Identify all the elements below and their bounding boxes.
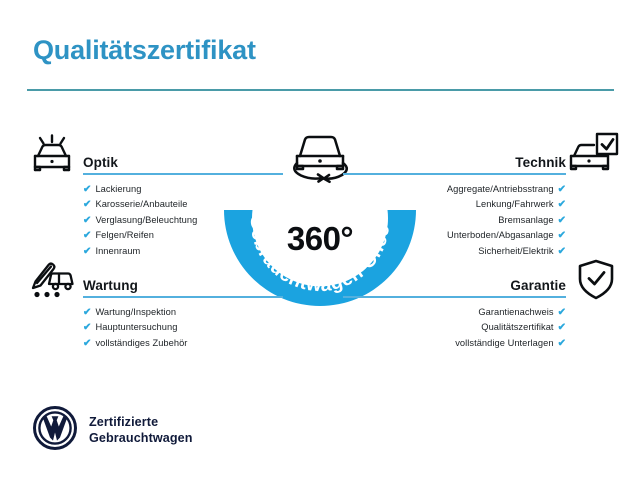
title-divider — [27, 89, 614, 91]
footer-brand: Zertifizierte Gebrauchtwagen — [33, 406, 193, 455]
footer-brand-text: Zertifizierte Gebrauchtwagen — [89, 415, 193, 446]
list-item: ✔Innenraum — [83, 244, 223, 259]
section-divider — [83, 296, 283, 298]
check-icon: ✔ — [558, 215, 566, 226]
checklist-technik: Aggregate/Antriebsstrang✔ Lenkung/Fahrwe… — [403, 182, 566, 259]
check-icon: ✔ — [83, 184, 91, 195]
list-item-label: Lackierung — [95, 184, 141, 194]
section-header: Technik — [403, 145, 566, 175]
check-icon: ✔ — [83, 322, 91, 333]
qualitaetszertifikat-page: Qualitätszertifikat — [0, 0, 640, 480]
list-item: ✔Verglasung/Beleuchtung — [83, 213, 223, 228]
section-header: Garantie — [403, 268, 566, 298]
check-icon: ✔ — [558, 322, 566, 333]
list-item: Garantienachweis✔ — [403, 305, 566, 320]
car-service-wrench-icon — [27, 257, 77, 304]
volkswagen-logo — [33, 406, 77, 455]
car-headlights-icon — [27, 134, 77, 181]
check-icon: ✔ — [558, 307, 566, 318]
list-item-label: Qualitätszertifikat — [481, 322, 553, 332]
check-icon: ✔ — [83, 307, 91, 318]
section-title-technik: Technik — [515, 155, 566, 170]
list-item: ✔Lackierung — [83, 182, 223, 197]
list-item-label: Karosserie/Anbauteile — [95, 199, 187, 209]
check-icon: ✔ — [558, 246, 566, 257]
list-item: Unterboden/Abgasanlage✔ — [403, 228, 566, 243]
list-item-label: Innenraum — [95, 246, 140, 256]
list-item-label: Aggregate/Antriebsstrang — [447, 184, 554, 194]
list-item-label: Unterboden/Abgasanlage — [447, 230, 554, 240]
list-item: Aggregate/Antriebsstrang✔ — [403, 182, 566, 197]
badge-360-gebrauchtwagen-check: Gebrauchtwagen-Check 360° — [222, 124, 418, 320]
list-item-label: Sicherheit/Elektrik — [478, 246, 553, 256]
list-item: ✔vollständiges Zubehör — [83, 336, 223, 351]
section-wartung: Wartung ✔Wartung/Inspektion ✔Hauptunters… — [83, 268, 223, 351]
list-item-label: Wartung/Inspektion — [95, 307, 176, 317]
page-title: Qualitätszertifikat — [33, 35, 256, 66]
section-title-wartung: Wartung — [83, 278, 138, 293]
section-garantie: Garantie Garantienachweis✔ Qualitätszert… — [403, 268, 566, 351]
list-item-label: Felgen/Reifen — [95, 230, 154, 240]
list-item: ✔Karosserie/Anbauteile — [83, 197, 223, 212]
checklist-garantie: Garantienachweis✔ Qualitätszertifikat✔ v… — [403, 305, 566, 351]
footer-line-2: Gebrauchtwagen — [89, 431, 193, 447]
list-item-label: Bremsanlage — [498, 215, 553, 225]
check-icon: ✔ — [83, 246, 91, 257]
list-item: ✔Felgen/Reifen — [83, 228, 223, 243]
check-icon: ✔ — [83, 215, 91, 226]
list-item-label: vollständige Unterlagen — [455, 338, 553, 348]
check-icon: ✔ — [83, 199, 91, 210]
list-item-label: vollständiges Zubehör — [95, 338, 187, 348]
check-icon: ✔ — [83, 230, 91, 241]
list-item-label: Hauptuntersuchung — [95, 322, 177, 332]
section-technik: Technik Aggregate/Antriebsstrang✔ Lenkun… — [403, 145, 566, 259]
section-divider — [343, 296, 566, 298]
car-checkbox-icon — [568, 132, 620, 181]
list-item: ✔Wartung/Inspektion — [83, 305, 223, 320]
check-icon: ✔ — [558, 199, 566, 210]
list-item: Lenkung/Fahrwerk✔ — [403, 197, 566, 212]
list-item: Bremsanlage✔ — [403, 213, 566, 228]
checklist-optik: ✔Lackierung ✔Karosserie/Anbauteile ✔Verg… — [83, 182, 223, 259]
section-header: Wartung — [83, 268, 223, 298]
check-icon: ✔ — [558, 184, 566, 195]
section-divider — [343, 173, 566, 175]
list-item-label: Verglasung/Beleuchtung — [95, 215, 197, 225]
list-item: ✔Hauptuntersuchung — [83, 320, 223, 335]
list-item: Qualitätszertifikat✔ — [403, 320, 566, 335]
list-item: Sicherheit/Elektrik✔ — [403, 244, 566, 259]
section-optik: Optik ✔Lackierung ✔Karosserie/Anbauteile… — [83, 145, 223, 259]
section-title-optik: Optik — [83, 155, 118, 170]
section-divider — [83, 173, 283, 175]
list-item-label: Garantienachweis — [478, 307, 553, 317]
list-item-label: Lenkung/Fahrwerk — [476, 199, 554, 209]
check-icon: ✔ — [558, 230, 566, 241]
list-item: vollständige Unterlagen✔ — [403, 336, 566, 351]
car-rotate-360-icon — [284, 130, 356, 186]
footer-line-1: Zertifizierte — [89, 415, 193, 431]
section-title-garantie: Garantie — [510, 278, 566, 293]
check-icon: ✔ — [83, 338, 91, 349]
shield-check-icon — [576, 258, 616, 307]
badge-center-label: 360° — [222, 220, 418, 258]
check-icon: ✔ — [558, 338, 566, 349]
section-header: Optik — [83, 145, 223, 175]
checklist-wartung: ✔Wartung/Inspektion ✔Hauptuntersuchung ✔… — [83, 305, 223, 351]
